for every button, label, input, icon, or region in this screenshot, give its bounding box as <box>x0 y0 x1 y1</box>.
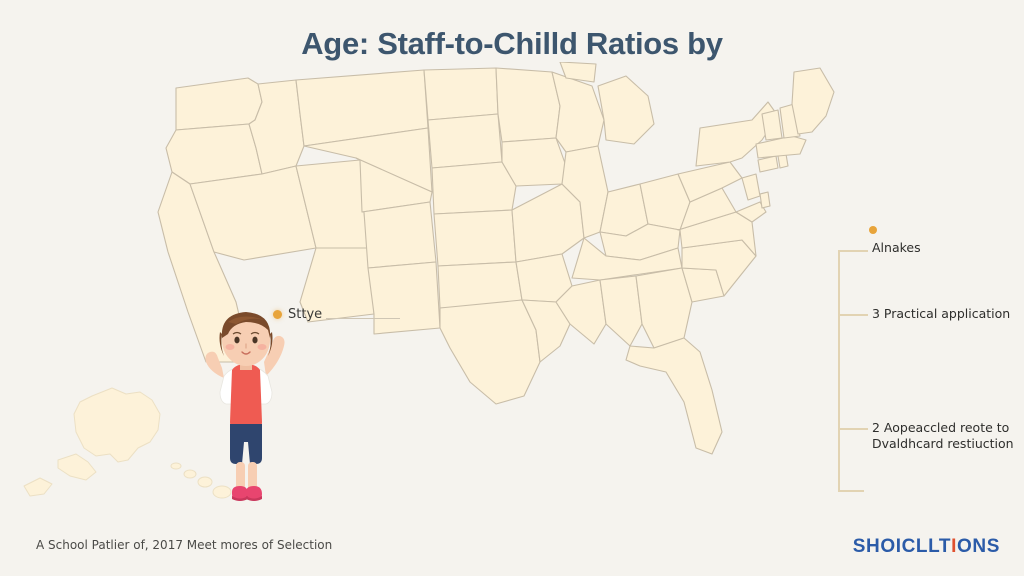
annotation-item-2[interactable]: 2 Aopeaccled reote to Dvaldhcard restiuc… <box>872 420 1022 452</box>
annotation-rail: Alnakes 3 Practical application 2 Aopeac… <box>826 228 1024 498</box>
brand-logo[interactable]: SHOICLLTIONS <box>853 536 1000 558</box>
annotation-dot-icon <box>869 226 877 234</box>
page-title: Age: Staff-to-Chilld Ratios by <box>0 26 1024 62</box>
annotation-item-1[interactable]: 3 Practical application <box>872 306 1022 322</box>
united-states-map-svg <box>0 62 930 512</box>
annotation-label-0: Alnakes <box>872 240 921 255</box>
rail-branch-2 <box>838 428 868 430</box>
footer-note: A School Patlier of, 2017 Meet mores of … <box>36 538 332 552</box>
logo-part-2: T <box>939 536 951 557</box>
logo-part-1: SHOICLL <box>853 536 939 557</box>
annotation-item-0[interactable]: Alnakes <box>872 240 1022 256</box>
annotation-label-2: 2 Aopeaccled reote to Dvaldhcard restiuc… <box>872 420 1014 451</box>
child-character-illustration <box>180 300 312 512</box>
rail-branch-1 <box>838 314 868 316</box>
map-container <box>0 62 930 512</box>
alaska-inset <box>24 388 160 496</box>
infographic-canvas: Age: Staff-to-Chilld Ratios by <box>0 0 1024 576</box>
rail-vertical-line <box>838 250 840 490</box>
logo-part-3: ONS <box>957 536 1000 557</box>
annotation-label-1: 3 Practical application <box>872 306 1010 321</box>
rail-bottom-cap <box>838 490 864 492</box>
rail-branch-0 <box>838 250 868 252</box>
marker-leader-line <box>326 318 400 319</box>
